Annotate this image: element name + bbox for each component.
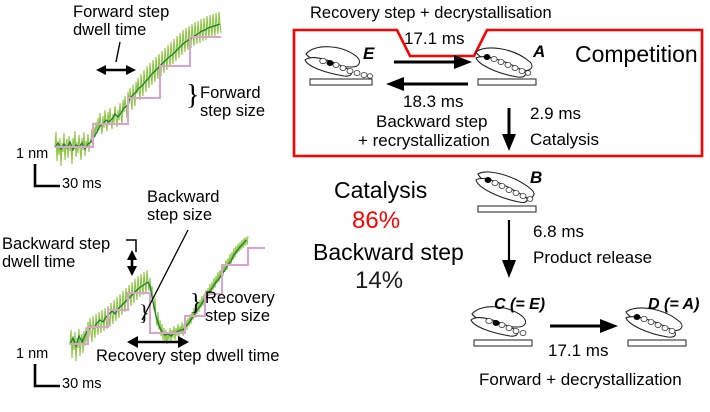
top-forward-dwell-label: Forward step dwell time bbox=[73, 3, 169, 40]
figure-canvas: Forward step dwell time } Forward step s… bbox=[0, 0, 710, 412]
forward-dwell-double-arrow bbox=[96, 65, 136, 75]
branch-backward-percent: 14% bbox=[355, 268, 403, 295]
bottom-caption: Forward + decrystallization bbox=[479, 370, 682, 389]
scheme-top-caption: Recovery step + decrystallisation bbox=[310, 4, 552, 22]
forward-time-label: 17.1 ms bbox=[404, 29, 464, 48]
backward-stepsize-brace: } bbox=[139, 301, 150, 326]
state-label-A: A bbox=[533, 42, 545, 61]
competition-label: Competition bbox=[575, 42, 698, 68]
backward-stepsize-label: Backward step size bbox=[147, 188, 219, 225]
bottom-scale-y-label: 1 nm bbox=[16, 346, 48, 362]
top-forward-stepsize-brace: } bbox=[186, 80, 199, 111]
backward-time-label: 18.3 ms bbox=[403, 92, 463, 111]
backward-dwell-label: Backward step dwell time bbox=[2, 235, 110, 272]
backward-caption-line2: + recrystallization bbox=[358, 131, 490, 150]
recovery-dwell-label: Recovery step dwell time bbox=[96, 347, 279, 365]
branch-catalysis-percent: 86% bbox=[352, 208, 400, 235]
bottom-time-label: 17.1 ms bbox=[548, 341, 608, 360]
top-forward-stepsize-label: Forward step size bbox=[200, 84, 265, 121]
catalysis-time-label: 2.9 ms bbox=[530, 104, 581, 123]
recovery-stepsize-brace: } bbox=[190, 290, 202, 317]
product-release-arrow bbox=[498, 218, 520, 282]
forward-dwell-pointer bbox=[96, 40, 166, 80]
branch-catalysis-label: Catalysis bbox=[334, 178, 427, 204]
state-label-B: B bbox=[530, 168, 542, 187]
product-time-label: 6.8 ms bbox=[533, 222, 584, 241]
branch-backward-label: Backward step bbox=[313, 240, 464, 266]
state-label-E: E bbox=[363, 44, 374, 63]
catalysis-down-arrow bbox=[498, 106, 520, 154]
recovery-stepsize-label: Recovery step size bbox=[205, 289, 275, 326]
catalysis-step-label: Catalysis bbox=[530, 130, 599, 149]
bottom-forward-arrow bbox=[548, 316, 628, 336]
product-release-label: Product release bbox=[533, 248, 652, 267]
state-label-D: D (= A) bbox=[648, 296, 699, 314]
backward-caption-line1: Backward step bbox=[376, 112, 488, 131]
state-label-C: C (= E) bbox=[494, 296, 545, 314]
top-scale-y-label: 1 nm bbox=[16, 146, 48, 162]
backward-arrow-A-to-E bbox=[382, 74, 482, 94]
forward-arrow-E-to-A bbox=[392, 52, 482, 72]
bottom-scale-x-label: 30 ms bbox=[62, 376, 102, 392]
